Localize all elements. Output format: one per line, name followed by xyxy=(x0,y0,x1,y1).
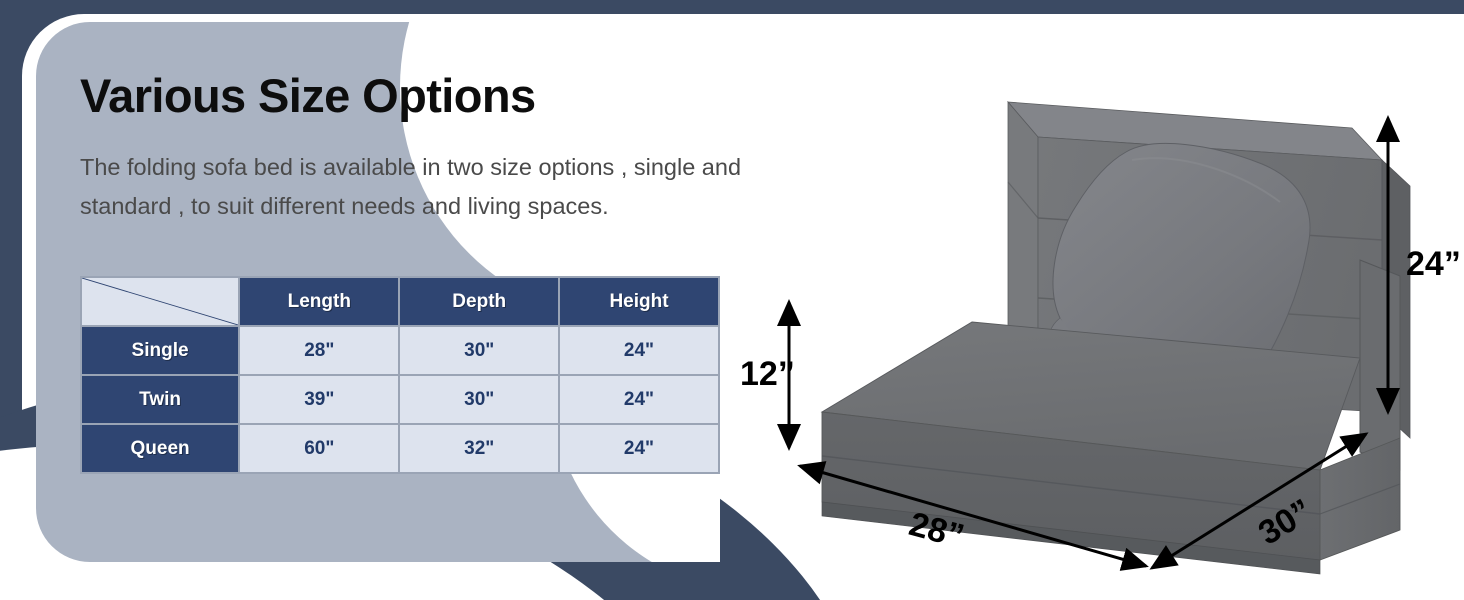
infographic-canvas: Various Size Options The folding sofa be… xyxy=(0,0,1464,600)
dimension-arrow-width-28 xyxy=(800,466,1146,566)
dimension-label-seat-height-12: 12” xyxy=(740,355,795,394)
dimension-arrow-depth-30 xyxy=(1152,434,1366,568)
dimension-label-height-24: 24” xyxy=(1406,245,1461,284)
dimension-annotations xyxy=(0,0,1464,600)
